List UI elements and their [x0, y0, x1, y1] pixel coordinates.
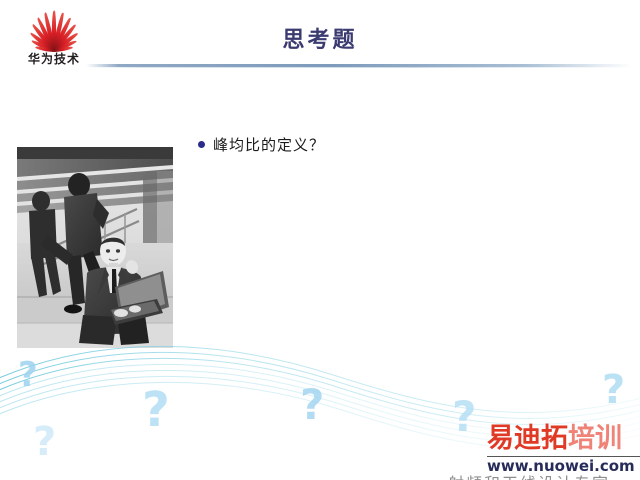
question-mark-icon-5: ? [452, 396, 476, 438]
watermark-tagline: 射频和天线设计专家 [448, 470, 610, 480]
question-mark-icon-3: ? [300, 384, 324, 426]
list-item: 峰均比的定义？ [198, 134, 325, 155]
page-title: 思考题 [0, 22, 640, 54]
question-mark-icon-6: ? [602, 370, 625, 410]
watermark-brand-part2: 培训 [568, 423, 622, 454]
bullet-dot-icon [198, 141, 205, 148]
watermark-brand: 易迪拓培训 [487, 424, 622, 454]
header-divider-shadow [86, 67, 632, 68]
presentation-slide: 华为技术 思考题 峰均比的定义？ [0, 0, 640, 480]
question-mark-icon-1: ? [18, 358, 38, 392]
bullet-text: 峰均比的定义？ [213, 134, 325, 155]
huawei-logo-text: 华为技术 [16, 52, 92, 66]
watermark: 易迪拓培训 www.nuowei.com 射频和天线设计专家 [487, 424, 640, 480]
businessmen-stairs-laptop-photo [17, 147, 173, 348]
watermark-brand-part1: 易迪拓 [487, 423, 568, 454]
slide-header: 华为技术 思考题 [0, 0, 640, 80]
question-mark-icon-2: ? [142, 386, 170, 434]
question-mark-icon-4: ? [33, 422, 56, 462]
